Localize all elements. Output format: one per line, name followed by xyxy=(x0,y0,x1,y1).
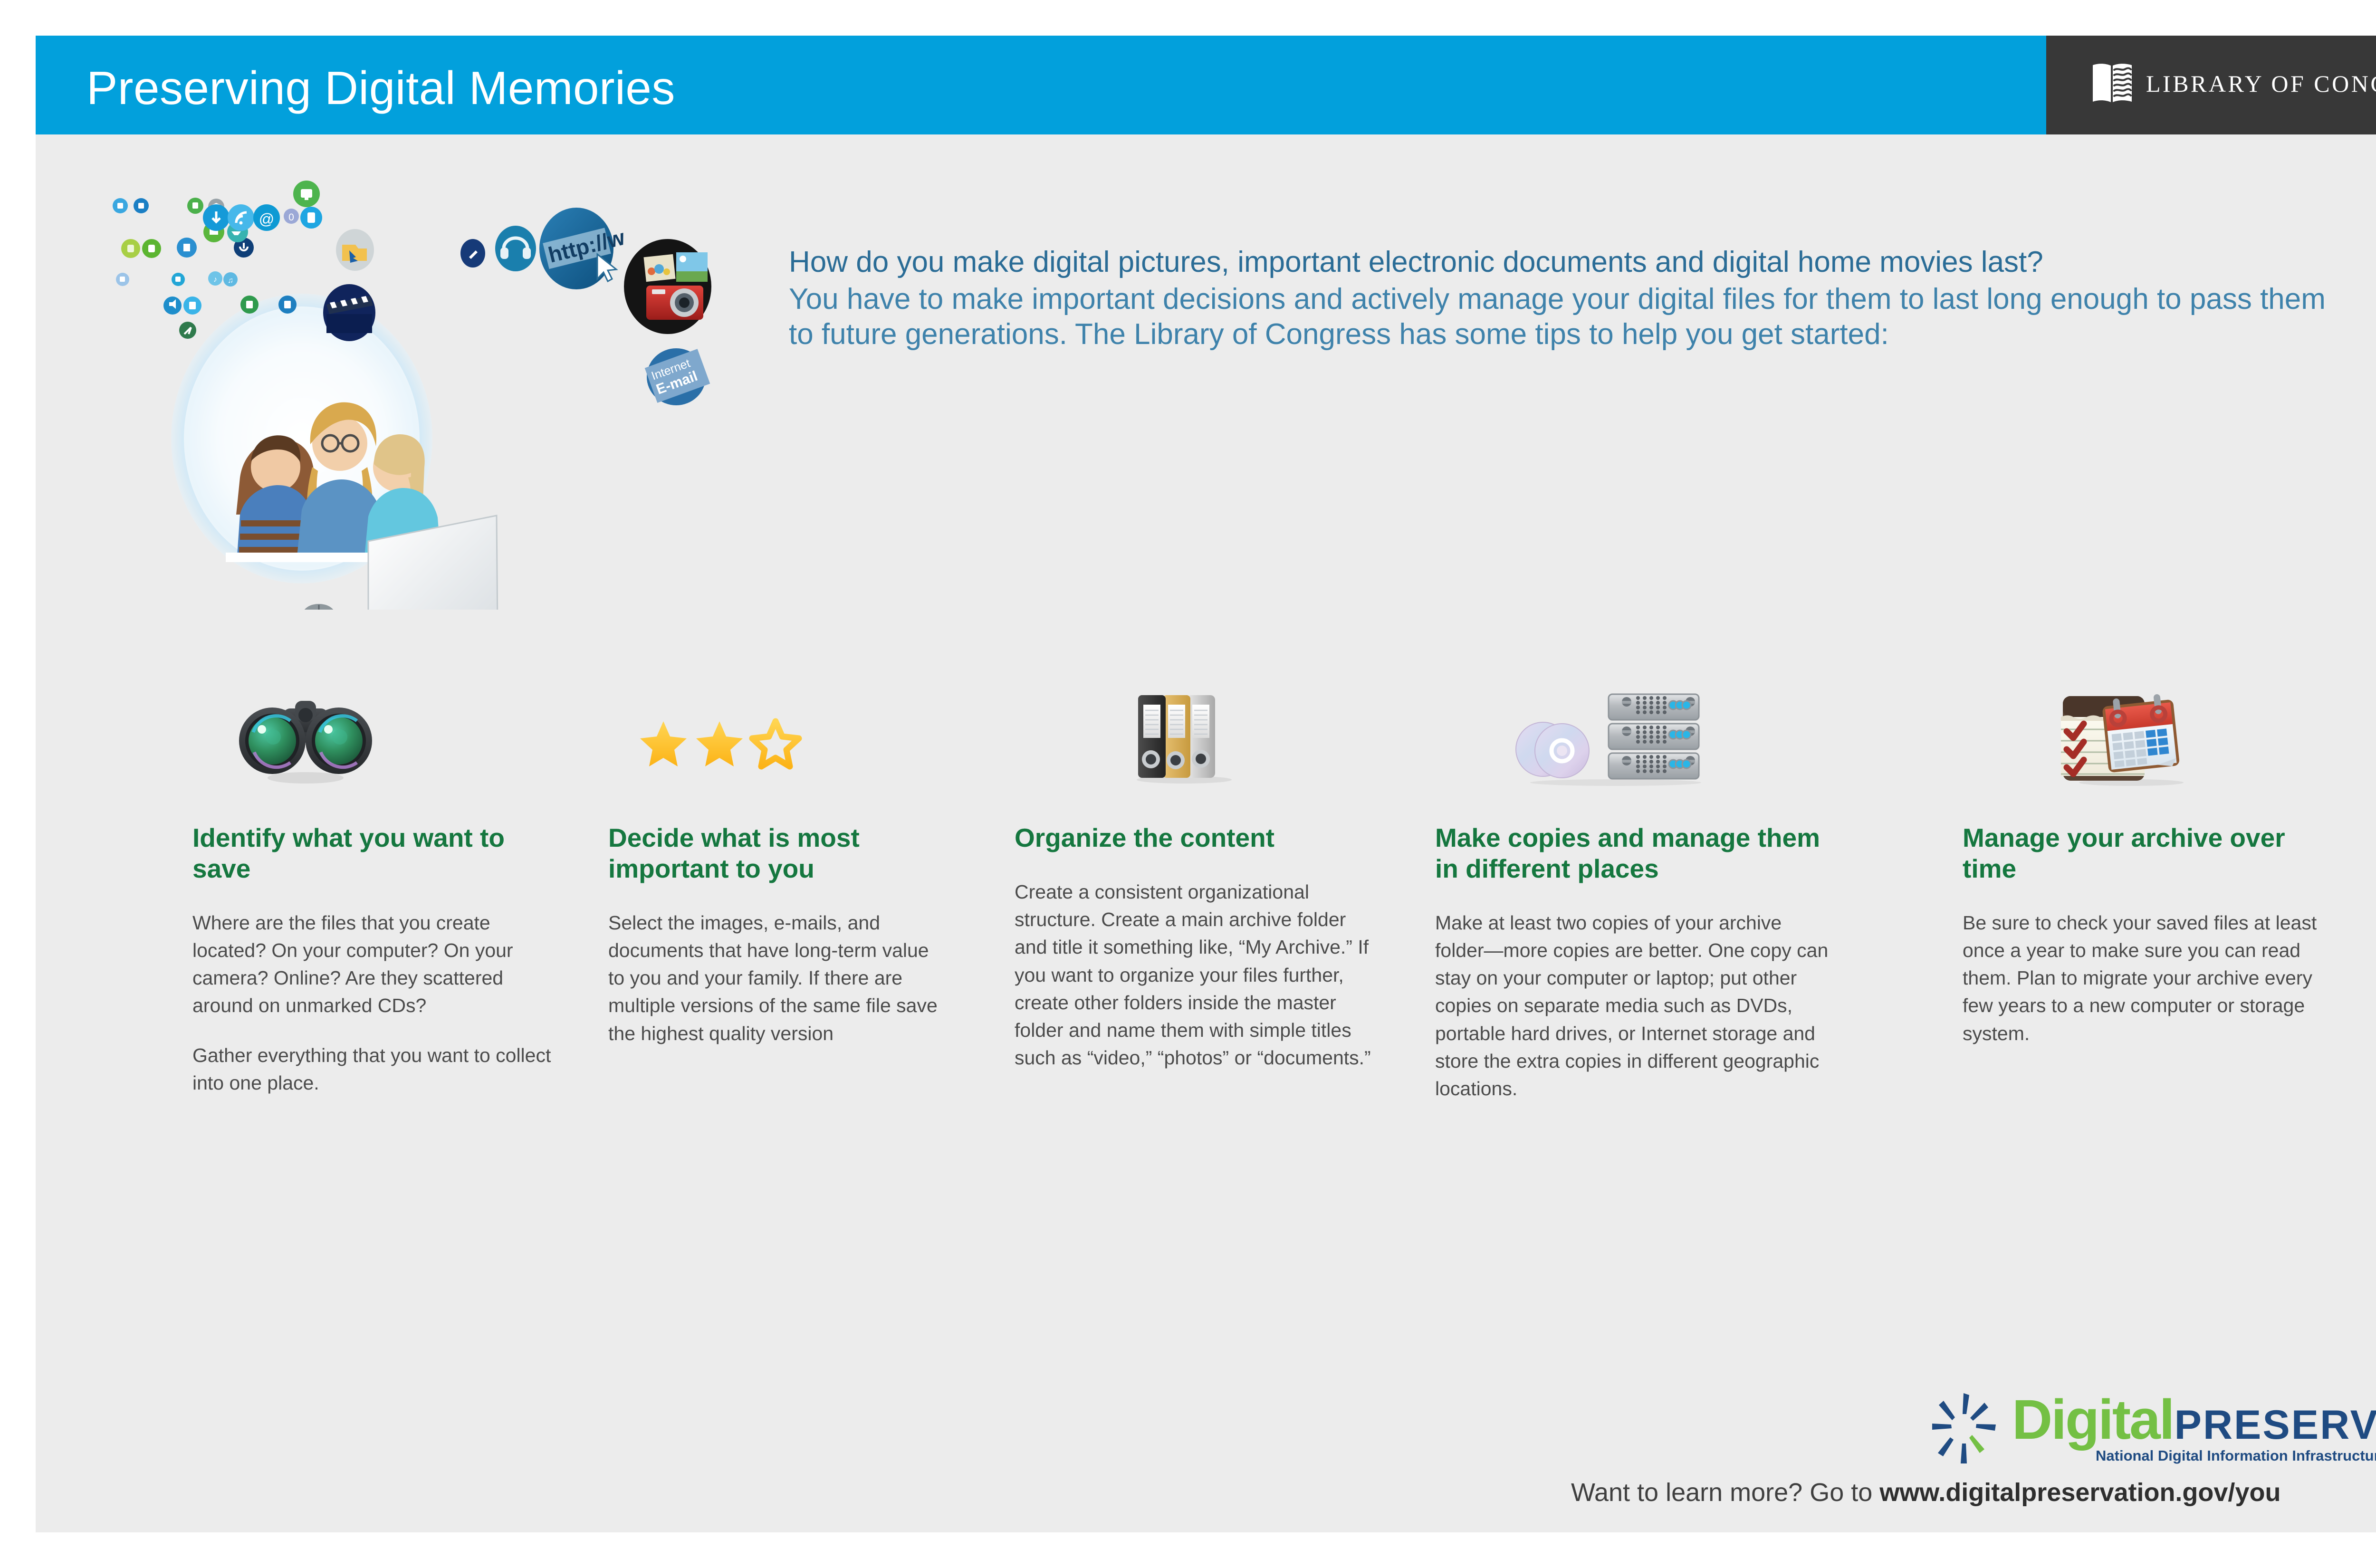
svg-text:♪: ♪ xyxy=(213,276,217,284)
logo-digital-word: Digital xyxy=(2012,1387,2174,1452)
logo-preservation-word: PRESERVATION xyxy=(2175,1402,2376,1449)
tip-column-4: Make copies and manage them in different… xyxy=(1435,649,1830,1102)
intro-body: You have to make important decisions and… xyxy=(789,282,2343,352)
tip-body: Create a consistent organizational struc… xyxy=(1015,878,1380,1072)
tip-paragraph: Gather everything that you want to colle… xyxy=(192,1042,568,1097)
footer-cta-prefix: Want to learn more? Go to xyxy=(1571,1478,1879,1507)
tip-column-5: Manage your archive over time Be sure to… xyxy=(1963,649,2324,1047)
tip-paragraph: Select the images, e-mails, and document… xyxy=(608,909,941,1047)
library-of-congress-logo: LIBRARY OF CONGRESS xyxy=(2046,36,2376,134)
page-title: Preserving Digital Memories xyxy=(86,61,675,115)
three-stars-rating-icon xyxy=(608,649,941,786)
checklist-and-calendar-icon xyxy=(1963,649,2324,786)
digital-preservation-logo: DigitalPRESERVATION National Digital Inf… xyxy=(1929,1387,2376,1466)
tip-paragraph: Make at least two copies of your archive… xyxy=(1435,909,1830,1103)
svg-text:♫: ♫ xyxy=(228,277,233,285)
svg-text:@: @ xyxy=(259,210,274,228)
library-of-congress-label: LIBRARY OF CONGRESS xyxy=(2146,70,2376,97)
header-band: Preserving Digital Memories xyxy=(36,36,2376,134)
footer-url[interactable]: www.digitalpreservation.gov/you xyxy=(1879,1478,2280,1507)
binoculars-icon xyxy=(192,649,568,786)
tip-paragraph: Create a consistent organizational struc… xyxy=(1015,878,1380,1072)
tip-body: Where are the files that you create loca… xyxy=(192,909,568,1097)
tip-body: Select the images, e-mails, and document… xyxy=(608,909,941,1047)
tip-title: Identify what you want to save xyxy=(192,822,568,884)
ring-binders-icon xyxy=(1015,649,1380,786)
footer-cta: Want to learn more? Go to www.digitalpre… xyxy=(1571,1478,2280,1507)
intro-block: How do you make digital pictures, import… xyxy=(789,245,2343,352)
hero-illustration: ♪ ♫ xyxy=(36,134,758,610)
tip-title: Manage your archive over time xyxy=(1963,822,2324,884)
tip-paragraph: Be sure to check your saved files at lea… xyxy=(1963,909,2324,1047)
logo-tagline: National Digital Information Infrastruct… xyxy=(2096,1447,2376,1464)
poster-canvas: Preserving Digital Memories xyxy=(36,36,2376,1532)
tip-title: Organize the content xyxy=(1015,822,1380,853)
tip-title: Decide what is most important to you xyxy=(608,822,941,884)
intro-question: How do you make digital pictures, import… xyxy=(789,245,2343,280)
starburst-icon xyxy=(1929,1387,2001,1466)
tip-paragraph: Where are the files that you create loca… xyxy=(192,909,568,1020)
cds-and-server-rack-icon xyxy=(1435,649,1830,786)
open-book-icon xyxy=(2092,62,2134,105)
svg-text:0: 0 xyxy=(288,212,294,223)
tip-body: Be sure to check your saved files at lea… xyxy=(1963,909,2324,1047)
tip-title: Make copies and manage them in different… xyxy=(1435,822,1830,884)
tip-column-1: Identify what you want to save Where are… xyxy=(192,649,568,1097)
tip-column-3: Organize the content Create a consistent… xyxy=(1015,649,1380,1071)
tip-column-2: Decide what is most important to you Sel… xyxy=(608,649,941,1047)
tip-body: Make at least two copies of your archive… xyxy=(1435,909,1830,1103)
